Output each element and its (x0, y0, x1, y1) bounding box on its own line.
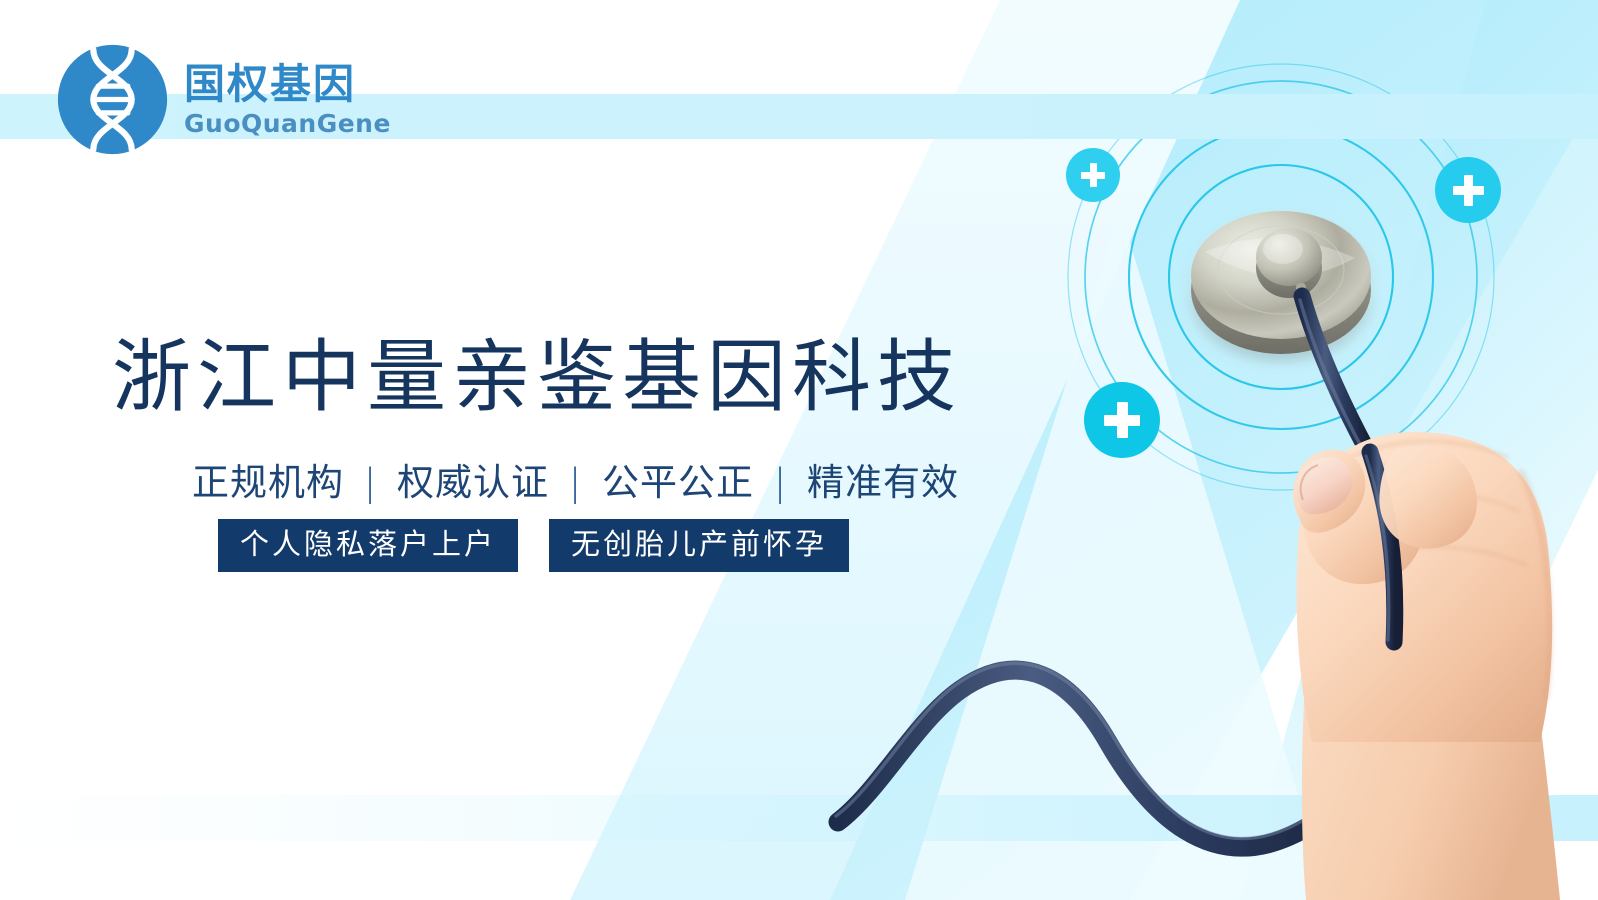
accent-band-bottom (0, 795, 1598, 841)
plus-badge-large (1084, 382, 1160, 458)
diagonal-wedge-pale-2 (905, 0, 1420, 900)
diagonal-band-cyan (830, 0, 1598, 900)
subtitle-part-4: 精准有效 (807, 461, 959, 504)
tag-personal-privacy[interactable]: 个人隐私落户上户 (218, 519, 518, 572)
hand-illustration (1293, 432, 1560, 900)
subtitle-part-1: 正规机构 (192, 461, 344, 504)
plus-badge-medium (1435, 157, 1501, 223)
stethoscope-tube-lower (838, 640, 1392, 847)
stethoscope-tube-upper (1302, 296, 1368, 452)
fingernail (1297, 457, 1353, 514)
brand-logo[interactable]: 国权基因 GuoQuanGene (55, 42, 391, 157)
subtitle-part-2: 权威认证 (397, 461, 549, 504)
index-finger (1302, 457, 1424, 584)
fingertip (1293, 450, 1365, 533)
stethoscope-chestpiece (1191, 211, 1371, 354)
subtitle-part-3: 公平公正 (602, 461, 754, 504)
hero-title: 浙江中量亲鉴基因科技 (112, 336, 962, 419)
hero-banner: 国权基因 GuoQuanGene 浙江中量亲鉴基因科技 正规机构 | 权威认证 … (0, 0, 1598, 900)
diagonal-band-cyan-right (1240, 0, 1598, 900)
tag-prenatal-test[interactable]: 无创胎儿产前怀孕 (549, 519, 849, 572)
diagonal-tint-left (905, 210, 1330, 900)
hero-tag-row: 个人隐私落户上户 无创胎儿产前怀孕 (218, 519, 849, 572)
brand-name-en: GuoQuanGene (184, 111, 391, 136)
subtitle-separator: | (357, 461, 384, 504)
subtitle-separator: | (562, 461, 589, 504)
hero-subtitle: 正规机构 | 权威认证 | 公平公正 | 精准有效 (192, 452, 959, 506)
dna-helix-circle-icon (55, 42, 170, 157)
plus-badge-small (1066, 148, 1120, 202)
subtitle-separator: | (767, 461, 794, 504)
diagonal-wedge-pale (570, 0, 1290, 900)
brand-name-cn: 国权基因 (184, 64, 391, 105)
